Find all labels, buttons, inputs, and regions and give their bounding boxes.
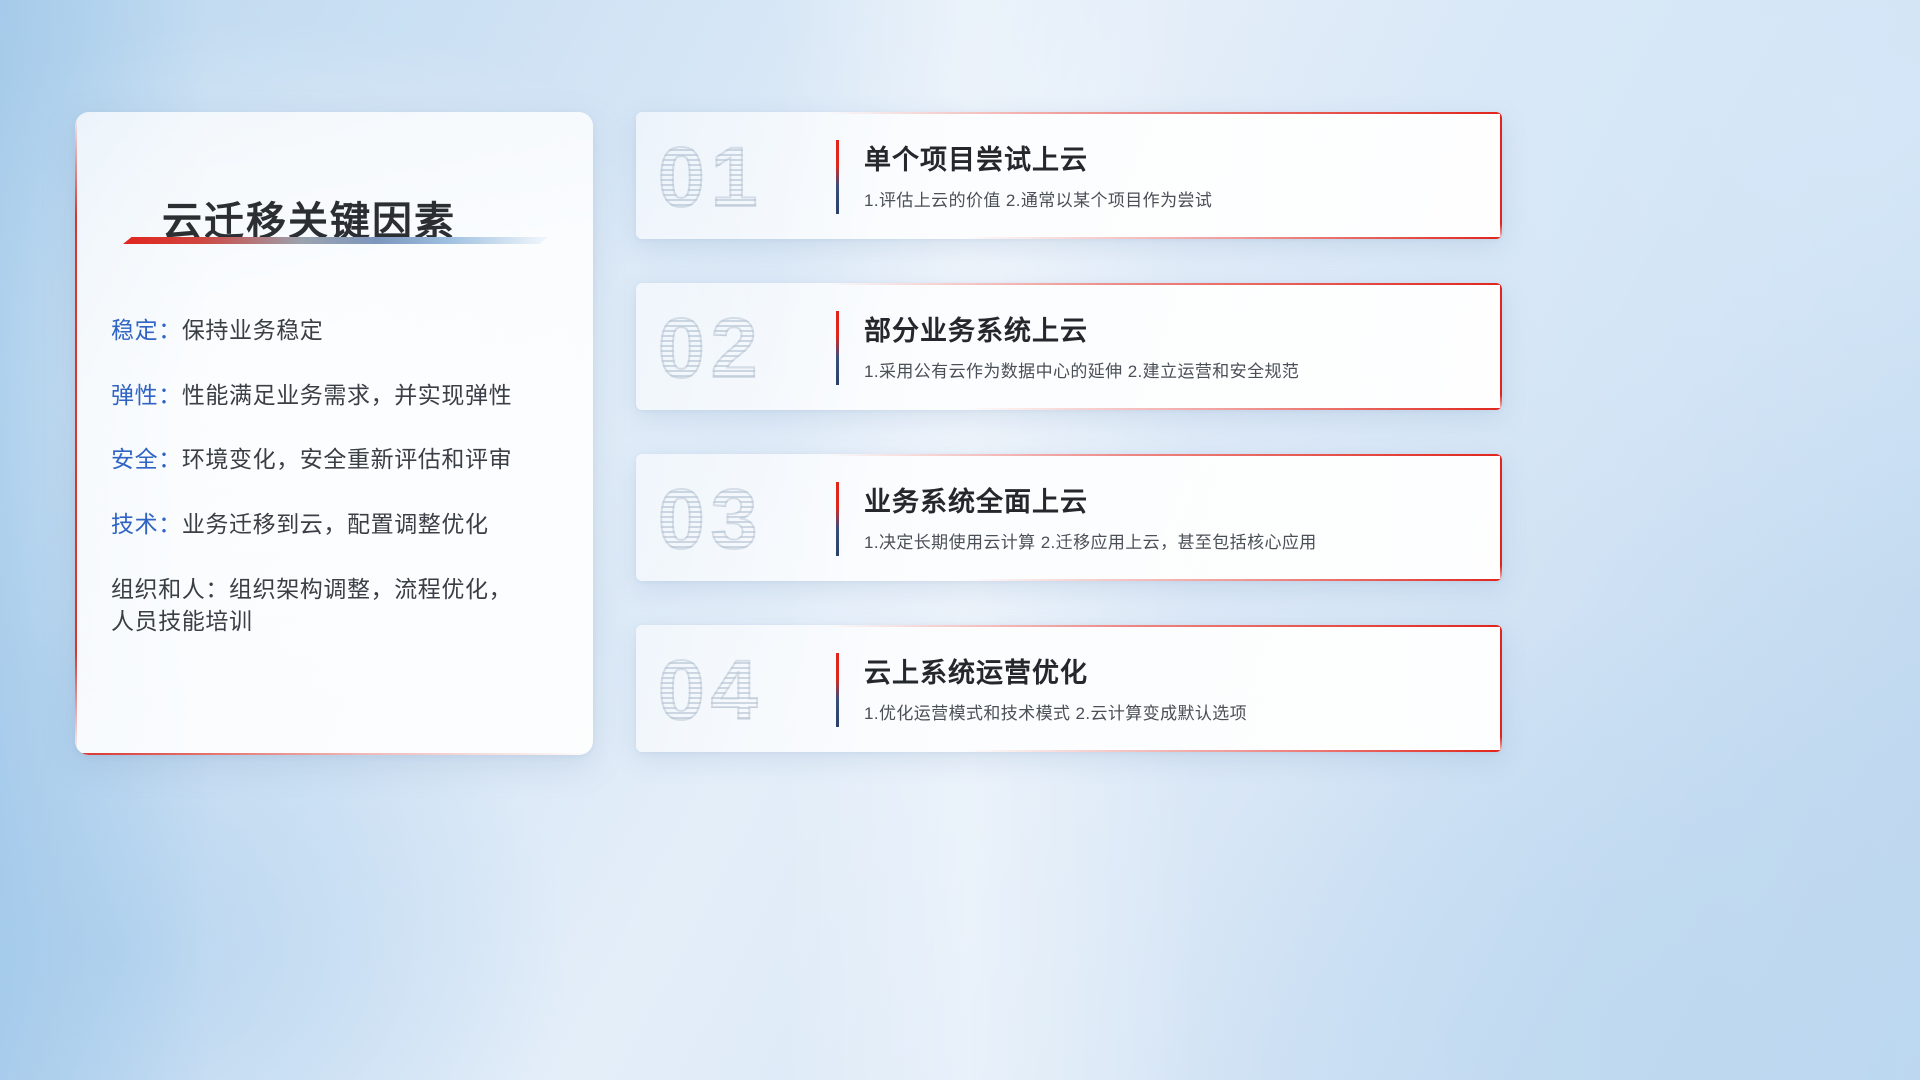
card-title: 云上系统运营优化 bbox=[864, 651, 1088, 690]
card-description: 1.优化运营模式和技术模式 2.云计算变成默认选项 bbox=[864, 699, 1247, 724]
card-right-accent bbox=[1500, 112, 1502, 239]
stage-card[interactable]: 01 单个项目尝试上云 1.评估上云的价值 2.通常以某个项目作为尝试 bbox=[636, 112, 1502, 239]
list-item-content: 环境变化，安全重新评估和评审 bbox=[182, 446, 512, 472]
list-item-label: 技术： bbox=[111, 511, 182, 537]
card-top-accent bbox=[827, 625, 1502, 627]
card-title: 部分业务系统上云 bbox=[864, 309, 1088, 348]
list-item-label: 弹性： bbox=[111, 382, 182, 408]
card-top-accent bbox=[827, 454, 1502, 456]
list-item: 安全：环境变化，安全重新评估和评审 bbox=[111, 443, 581, 476]
card-description: 1.评估上云的价值 2.通常以某个项目作为尝试 bbox=[864, 186, 1212, 211]
card-description: 1.采用公有云作为数据中心的延伸 2.建立运营和安全规范 bbox=[864, 357, 1299, 382]
list-item: 技术：业务迁移到云，配置调整优化 bbox=[111, 508, 581, 541]
card-bottom-accent bbox=[965, 750, 1502, 752]
list-item-label: 稳定： bbox=[111, 317, 182, 343]
list-item-label: 组织和人： bbox=[111, 576, 229, 602]
stage-card[interactable]: 04 云上系统运营优化 1.优化运营模式和技术模式 2.云计算变成默认选项 bbox=[636, 625, 1502, 752]
title-underline-gradient bbox=[123, 237, 548, 244]
card-step-number: 01 bbox=[658, 129, 828, 225]
card-divider bbox=[836, 140, 839, 214]
card-top-accent bbox=[827, 283, 1502, 285]
list-item: 组织和人：组织架构调整，流程优化， 人员技能培训 bbox=[111, 573, 581, 638]
card-bottom-accent bbox=[965, 237, 1502, 239]
list-item: 弹性：性能满足业务需求，并实现弹性 bbox=[111, 379, 581, 412]
key-factors-list: 稳定：保持业务稳定 弹性：性能满足业务需求，并实现弹性 安全：环境变化，安全重新… bbox=[111, 314, 581, 638]
card-title: 业务系统全面上云 bbox=[864, 480, 1088, 519]
card-right-accent bbox=[1500, 454, 1502, 581]
list-item-label: 安全： bbox=[111, 446, 182, 472]
card-step-number: 02 bbox=[658, 300, 828, 396]
panel-left-accent bbox=[75, 112, 77, 755]
card-top-accent bbox=[827, 112, 1502, 114]
card-divider bbox=[836, 311, 839, 385]
card-title: 单个项目尝试上云 bbox=[864, 138, 1088, 177]
card-step-number: 03 bbox=[658, 471, 828, 567]
card-divider bbox=[836, 653, 839, 727]
panel-bottom-accent bbox=[75, 753, 593, 755]
list-item: 稳定：保持业务稳定 bbox=[111, 314, 581, 347]
card-divider bbox=[836, 482, 839, 556]
list-item-content: 保持业务稳定 bbox=[182, 317, 324, 343]
card-right-accent bbox=[1500, 283, 1502, 410]
card-bottom-accent bbox=[965, 579, 1502, 581]
card-description: 1.决定长期使用云计算 2.迁移应用上云，甚至包括核心应用 bbox=[864, 528, 1317, 553]
stage-card[interactable]: 02 部分业务系统上云 1.采用公有云作为数据中心的延伸 2.建立运营和安全规范 bbox=[636, 283, 1502, 410]
card-bottom-accent bbox=[965, 408, 1502, 410]
list-item-content: 业务迁移到云，配置调整优化 bbox=[182, 511, 489, 537]
card-right-accent bbox=[1500, 625, 1502, 752]
card-step-number: 04 bbox=[658, 642, 828, 738]
stage-cards: 01 单个项目尝试上云 1.评估上云的价值 2.通常以某个项目作为尝试 02 部… bbox=[636, 112, 1502, 752]
list-item-content: 性能满足业务需求，并实现弹性 bbox=[182, 382, 512, 408]
stage-card[interactable]: 03 业务系统全面上云 1.决定长期使用云计算 2.迁移应用上云，甚至包括核心应… bbox=[636, 454, 1502, 581]
key-factors-panel: 云迁移关键因素 稳定：保持业务稳定 弹性：性能满足业务需求，并实现弹性 安全：环… bbox=[75, 112, 593, 755]
